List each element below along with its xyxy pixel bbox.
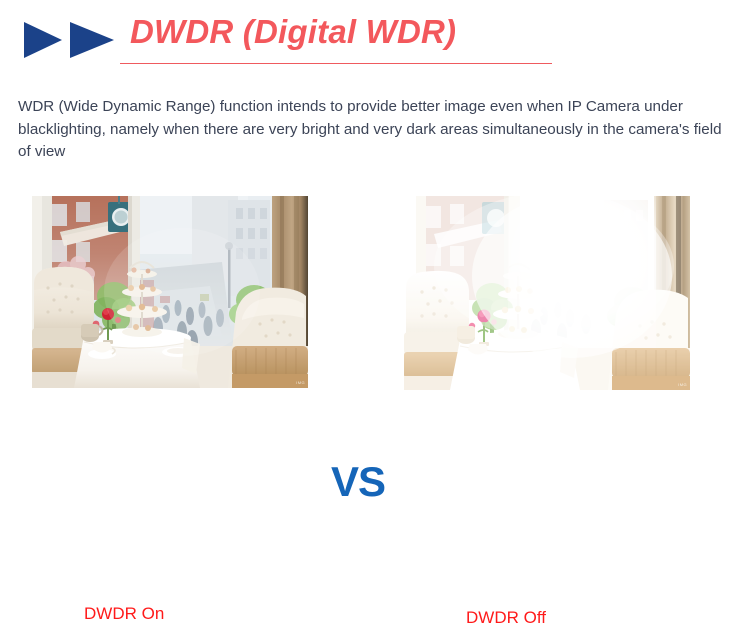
photo-dwdr-off: IMG: [404, 196, 690, 390]
double-chevron-right-icon: [22, 20, 118, 60]
photo-dwdr-off-image: [404, 196, 690, 390]
page-header: DWDR (Digital WDR): [0, 0, 750, 80]
caption-dwdr-on: DWDR On: [84, 604, 164, 624]
photo-dwdr-on-image: [32, 196, 308, 388]
comparison-row: IMG VS: [0, 196, 750, 396]
photo-dwdr-on: IMG: [32, 196, 308, 388]
intro-paragraph: WDR (Wide Dynamic Range) function intend…: [18, 96, 724, 164]
title-underline-rule: [120, 63, 552, 64]
vs-label: VS: [318, 458, 398, 506]
page-title: DWDR (Digital WDR): [130, 13, 456, 51]
caption-dwdr-off: DWDR Off: [466, 608, 546, 628]
